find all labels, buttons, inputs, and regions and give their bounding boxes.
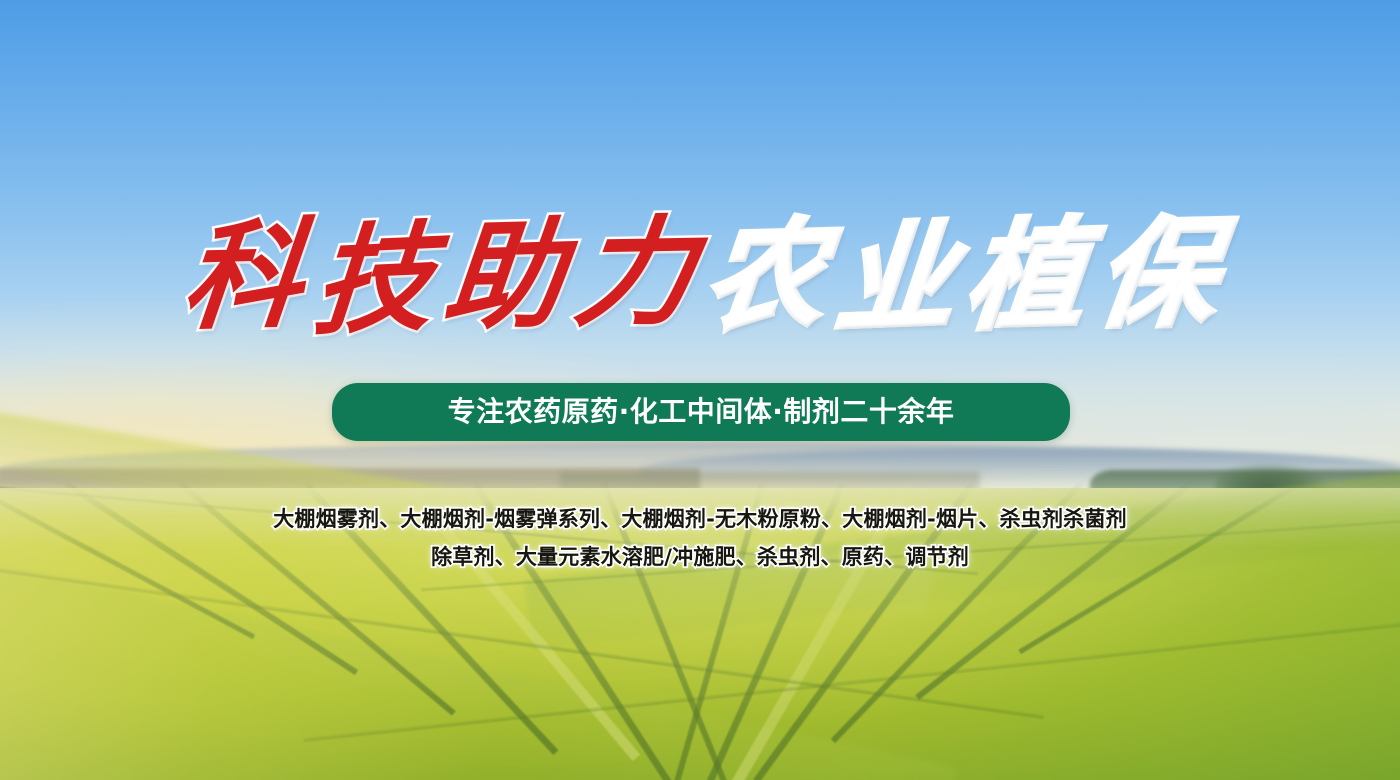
headline-char-1: 科 xyxy=(178,212,308,339)
headline-char-8: 保 xyxy=(1090,211,1223,337)
headline-char-4: 力 xyxy=(568,210,702,336)
promo-banner: 科 技 助 力 农 业 植 保 专注农药原药·化工中间体·制剂二十余年 大棚烟雾… xyxy=(0,0,1400,780)
product-line-1: 大棚烟雾剂、大棚烟剂-烟雾弹系列、大棚烟剂-无木粉原粉、大棚烟剂-烟片、杀虫剂杀… xyxy=(0,500,1400,538)
headline-char-5: 农 xyxy=(700,212,830,339)
headline-char-2: 技 xyxy=(309,215,437,344)
headline: 科 技 助 力 农 业 植 保 xyxy=(0,214,1400,338)
subtitle-text: 专注农药原药·化工中间体·制剂二十余年 xyxy=(448,398,955,426)
subtitle-pill: 专注农药原药·化工中间体·制剂二十余年 xyxy=(332,383,1070,441)
product-line-2: 除草剂、大量元素水溶肥/冲施肥、杀虫剂、原药、调节剂 xyxy=(0,538,1400,576)
headline-char-3: 助 xyxy=(439,212,569,339)
headline-char-6: 业 xyxy=(831,215,960,343)
headline-char-7: 植 xyxy=(961,212,1091,339)
product-list: 大棚烟雾剂、大棚烟剂-烟雾弹系列、大棚烟剂-无木粉原粉、大棚烟剂-烟片、杀虫剂杀… xyxy=(0,500,1400,576)
